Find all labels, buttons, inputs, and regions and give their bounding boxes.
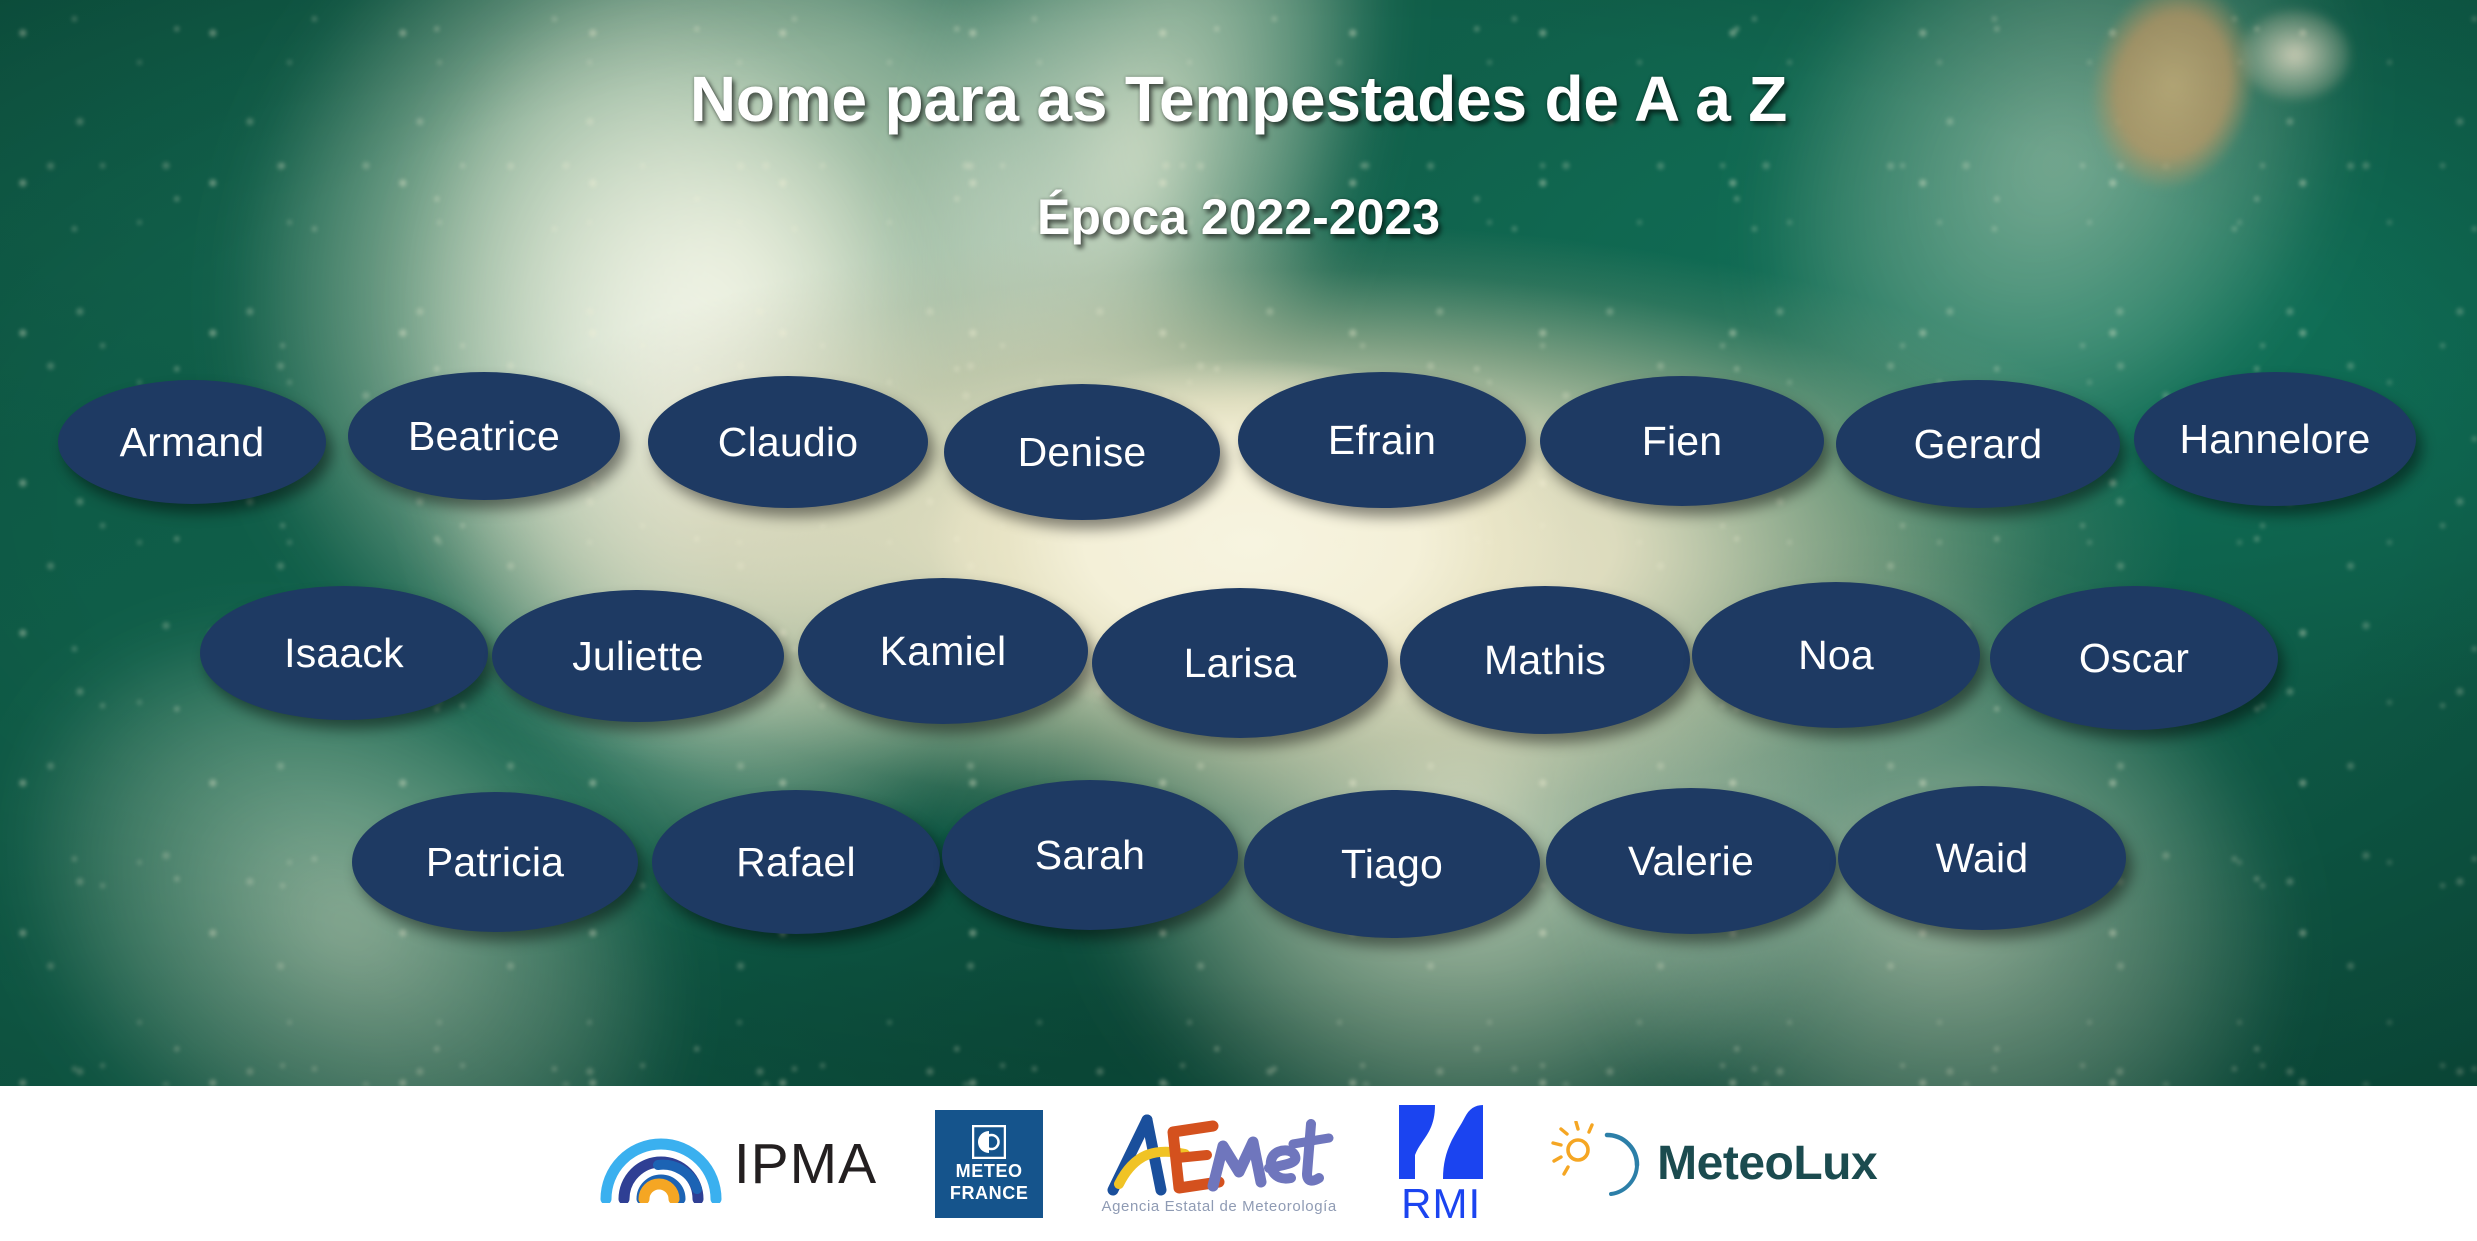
aemet-logo[interactable]: Agencia Estatal de Meteorología [1101,1112,1337,1215]
storm-name-bubble[interactable]: Isaack [200,586,488,720]
storm-name-label: Waid [1936,835,2029,882]
rmi-wordmark: RMI [1401,1183,1481,1225]
storm-name-label: Hannelore [2180,416,2371,463]
storm-name-label: Oscar [2079,635,2189,682]
storm-name-label: Patricia [426,839,564,886]
ipma-logo[interactable]: IPMA [600,1125,877,1203]
meteo-france-emblem-icon [972,1125,1006,1159]
storm-name-bubble[interactable]: Rafael [652,790,940,934]
storm-name-bubble[interactable]: Beatrice [348,372,620,500]
partner-logos-footer: IPMA METEO FRANCE [0,1086,2477,1241]
ipma-rainbow-icon [600,1125,722,1203]
meteolux-logo[interactable]: MeteoLux [1545,1121,1877,1207]
storm-name-label: Kamiel [880,628,1007,675]
storm-name-bubble[interactable]: Denise [944,384,1220,520]
storm-name-bubble[interactable]: Gerard [1836,380,2120,508]
meteo-france-logo[interactable]: METEO FRANCE [935,1110,1043,1218]
storm-name-bubble[interactable]: Armand [58,380,326,504]
storm-name-label: Larisa [1184,640,1297,687]
storm-name-bubble[interactable]: Oscar [1990,586,2278,730]
storm-name-bubble[interactable]: Claudio [648,376,928,508]
rmi-logo[interactable]: RMI [1395,1103,1487,1225]
meteolux-sun-crescent-icon [1545,1121,1653,1207]
storm-name-bubble[interactable]: Mathis [1400,586,1690,734]
storm-names-poster: Nome para as Tempestades de A a Z Época … [0,0,2477,1241]
storm-name-label: Claudio [718,419,858,466]
ipma-wordmark: IPMA [734,1131,877,1197]
storm-name-label: Fien [1642,418,1723,465]
storm-name-bubble[interactable]: Efrain [1238,372,1526,508]
storm-name-label: Juliette [572,633,704,680]
storm-name-bubble[interactable]: Noa [1692,582,1980,728]
meteo-france-wordmark-line2: FRANCE [950,1184,1029,1203]
storm-name-list: Armand Beatrice Claudio Denise Efrain Fi… [0,0,2477,1086]
storm-name-label: Beatrice [408,413,560,460]
storm-name-label: Mathis [1484,637,1606,684]
storm-name-bubble[interactable]: Patricia [352,792,638,932]
aemet-subtitle: Agencia Estatal de Meteorología [1101,1198,1336,1215]
storm-name-bubble[interactable]: Waid [1838,786,2126,930]
storm-name-bubble[interactable]: Kamiel [798,578,1088,724]
storm-name-label: Isaack [284,630,404,677]
storm-name-label: Noa [1798,632,1874,679]
storm-name-label: Valerie [1628,838,1754,885]
storm-name-bubble[interactable]: Larisa [1092,588,1388,738]
storm-name-bubble[interactable]: Fien [1540,376,1824,506]
storm-name-label: Rafael [736,839,856,886]
storm-name-label: Armand [120,419,265,466]
storm-name-label: Denise [1018,429,1147,476]
storm-name-label: Sarah [1035,832,1145,879]
storm-name-bubble[interactable]: Sarah [942,780,1238,930]
storm-name-label: Gerard [1914,421,2043,468]
storm-name-label: Tiago [1341,841,1443,888]
meteolux-wordmark: MeteoLux [1657,1136,1877,1191]
storm-name-label: Efrain [1328,417,1436,464]
storm-name-bubble[interactable]: Juliette [492,590,784,722]
storm-name-bubble[interactable]: Hannelore [2134,372,2416,506]
rmi-emblem-icon [1395,1103,1487,1181]
meteo-france-wordmark-line1: METEO [956,1162,1023,1181]
storm-name-bubble[interactable]: Valerie [1546,788,1836,934]
storm-name-bubble[interactable]: Tiago [1244,790,1540,938]
aemet-wordmark-icon [1101,1112,1337,1200]
